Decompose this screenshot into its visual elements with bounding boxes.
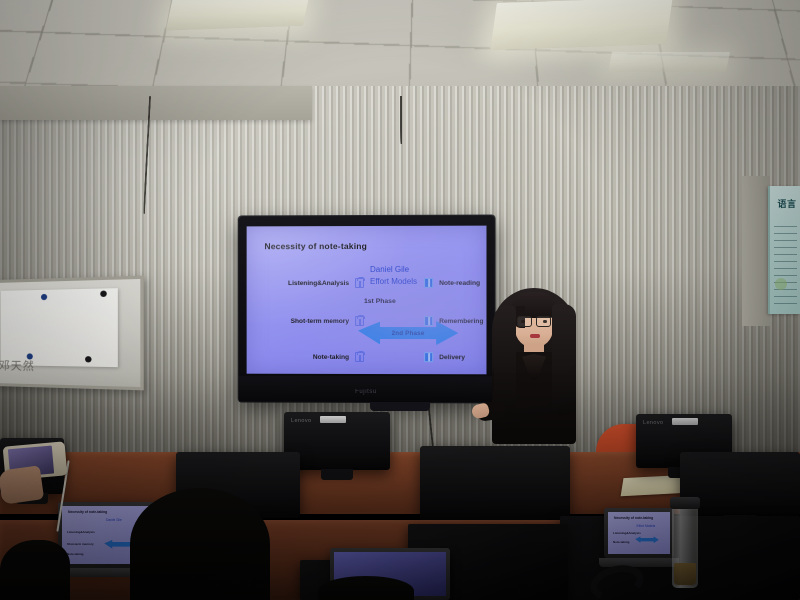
whiteboard-handwriting: 邓天然 (0, 357, 136, 383)
slide-left-item: Listening&Analysis (260, 278, 364, 288)
poster-title: 语言 (774, 200, 800, 209)
laptop-base[interactable] (599, 558, 679, 567)
poster-frame (742, 176, 770, 326)
monitor-brand-label: Lenovo (291, 418, 311, 424)
presenter-hair-left (494, 306, 516, 414)
slide-right-item: Note-reading (424, 278, 480, 288)
flask-contents (674, 563, 696, 585)
slide-subtitle-line-1: Daniel Gile (370, 264, 417, 276)
tea-flask (672, 506, 698, 588)
mini-left-item: Shot-term memory (67, 542, 94, 546)
whiteboard: 邓天然 (0, 276, 144, 391)
display-bezel: Fujitsu (239, 376, 495, 403)
student-silhouette (318, 576, 414, 600)
presentation-slide: Necessity of note-taking Daniel Gile Eff… (247, 226, 487, 375)
ceiling (0, 0, 800, 96)
mini-left-item: Note-taking (67, 552, 84, 556)
presenter-lips (530, 334, 540, 338)
ceiling-light-panel (490, 0, 673, 50)
presenter-hair-right (552, 304, 576, 416)
hanging-cable (400, 96, 402, 144)
desktop-monitor (420, 446, 570, 522)
mini-double-arrow-icon (635, 536, 659, 544)
presenter-eye (521, 320, 525, 323)
slide-phase-1-label: 1st Phase (364, 298, 396, 305)
slide-right-item: Delivery (424, 352, 465, 362)
presenter (486, 284, 582, 444)
monitor-brand-label: Lenovo (643, 420, 663, 426)
presenter-hair-front (511, 292, 557, 318)
mini-left-item: Listening&Analysis (67, 530, 95, 534)
slide-bidirectional-arrow: 2nd Phase (358, 318, 458, 348)
whiteboard-paper (1, 288, 118, 367)
wall-display[interactable]: Necessity of note-taking Daniel Gile Eff… (239, 216, 495, 403)
mini-slide-subtitle: Effort Models (637, 524, 656, 528)
display-stand (370, 402, 430, 411)
laptop-screen: Necessity of note-taking Effort Models L… (608, 512, 670, 554)
presenter-eye (543, 320, 547, 323)
student-silhouette (0, 540, 70, 600)
eyeglasses-icon (517, 316, 551, 325)
slide-left-item-label: Listening&Analysis (288, 280, 349, 287)
mini-slide-title: Necessity of note-taking (68, 510, 107, 514)
classroom-photo-scene: 语言 邓天然 Necessity of note-taking Daniel G… (0, 0, 800, 600)
slide-right-column: Note-reading Remembering Delivery (424, 226, 486, 375)
wall-poster: 语言 (768, 186, 800, 314)
flask-cap (670, 497, 700, 509)
book-outline-icon (355, 278, 364, 288)
display-brand-logo: Fujitsu (355, 389, 377, 395)
slide-subtitle-line-2: Effort Models (370, 276, 417, 288)
monitor-badge (672, 418, 698, 425)
slide-left-item: Note-taking (260, 352, 364, 362)
student-laptop[interactable]: Necessity of note-taking Effort Models L… (604, 508, 674, 558)
slide-left-item-label: Shot-term memory (291, 317, 349, 324)
mini-left-item: Listening&Analysis (613, 531, 641, 535)
mini-slide-title: Necessity of note-taking (614, 516, 653, 520)
poster-seal-icon (775, 278, 787, 290)
slide-phase-2-label: 2nd Phase (358, 318, 458, 348)
book-solid-icon (424, 352, 433, 362)
slide-left-column: Listening&Analysis Shot-term memory Note… (260, 226, 364, 374)
student-silhouette (130, 488, 270, 600)
slide-subtitle: Daniel Gile Effort Models (370, 264, 417, 288)
ceiling-light-panel (608, 52, 730, 72)
ceiling-light-panel (166, 0, 310, 30)
slide-left-item-label: Note-taking (313, 353, 349, 360)
mini-left-item: Note-taking (613, 540, 630, 544)
slide-right-item-label: Note-reading (439, 279, 480, 286)
laptop-lid: Necessity of note-taking Effort Models L… (604, 508, 674, 558)
poster-body-text (774, 226, 797, 308)
slide-left-item: Shot-term memory (260, 316, 364, 326)
book-solid-icon (424, 278, 433, 288)
wall-upper-ledge (0, 86, 312, 120)
monitor-badge (320, 416, 346, 423)
display-screen: Necessity of note-taking Daniel Gile Eff… (247, 226, 487, 375)
hand-holding-phone (0, 465, 44, 505)
book-outline-icon (355, 352, 364, 362)
slide-right-item-label: Delivery (439, 354, 465, 361)
mini-slide-subtitle: Daniel Gile (106, 518, 122, 522)
